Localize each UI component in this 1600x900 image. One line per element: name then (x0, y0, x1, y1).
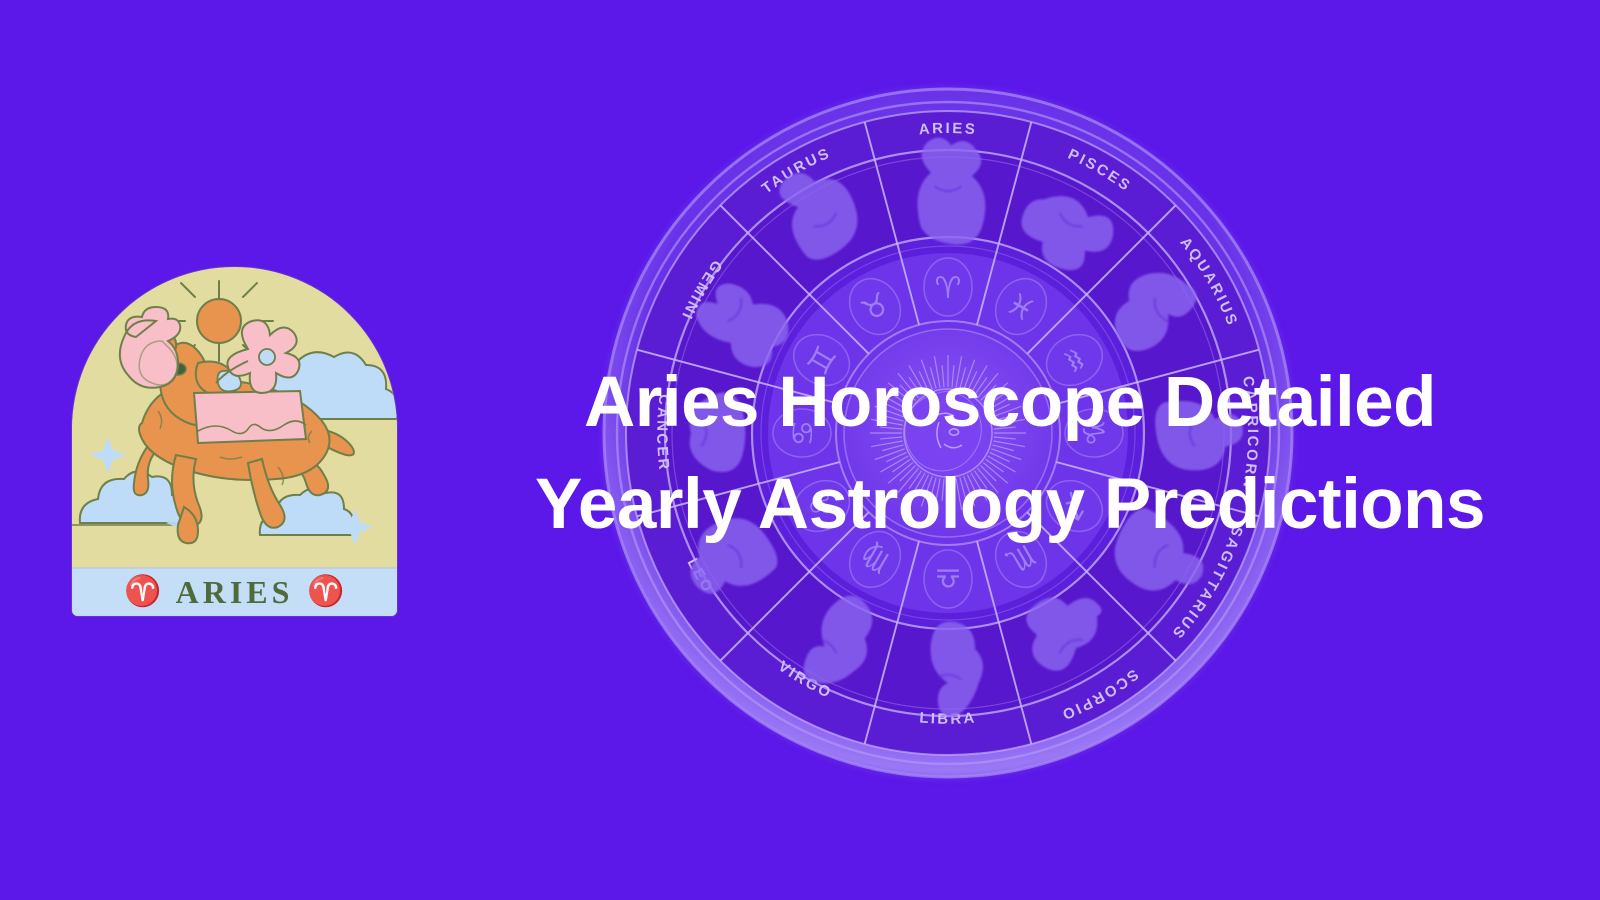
svg-text:♈: ♈ (935, 271, 962, 306)
horoscope-banner: ARIESPISCESAQUARIUSCAPRICORNSAGITTARIUSS… (0, 0, 1600, 900)
wheel-glyph-aries: ♈ (924, 258, 972, 316)
page-title-line-1: Aries Horoscope Detailed (480, 352, 1540, 454)
page-title-line-2: Yearly Astrology Predictions (480, 454, 1540, 556)
wheel-figure-aries (917, 138, 985, 245)
aries-glyph-icon: ♈ (307, 577, 344, 607)
aries-sign-card: ♈ ARIES ♈ (72, 267, 397, 616)
aries-glyph-icon: ♈ (124, 577, 161, 607)
wheel-sign-label-aries: ARIES (918, 120, 978, 138)
page-title: Aries Horoscope Detailed Yearly Astrolog… (480, 352, 1540, 556)
aries-sign-label: ARIES (176, 574, 294, 611)
wheel-glyph-libra: ♎ (924, 550, 972, 608)
svg-text:♎: ♎ (935, 560, 962, 595)
